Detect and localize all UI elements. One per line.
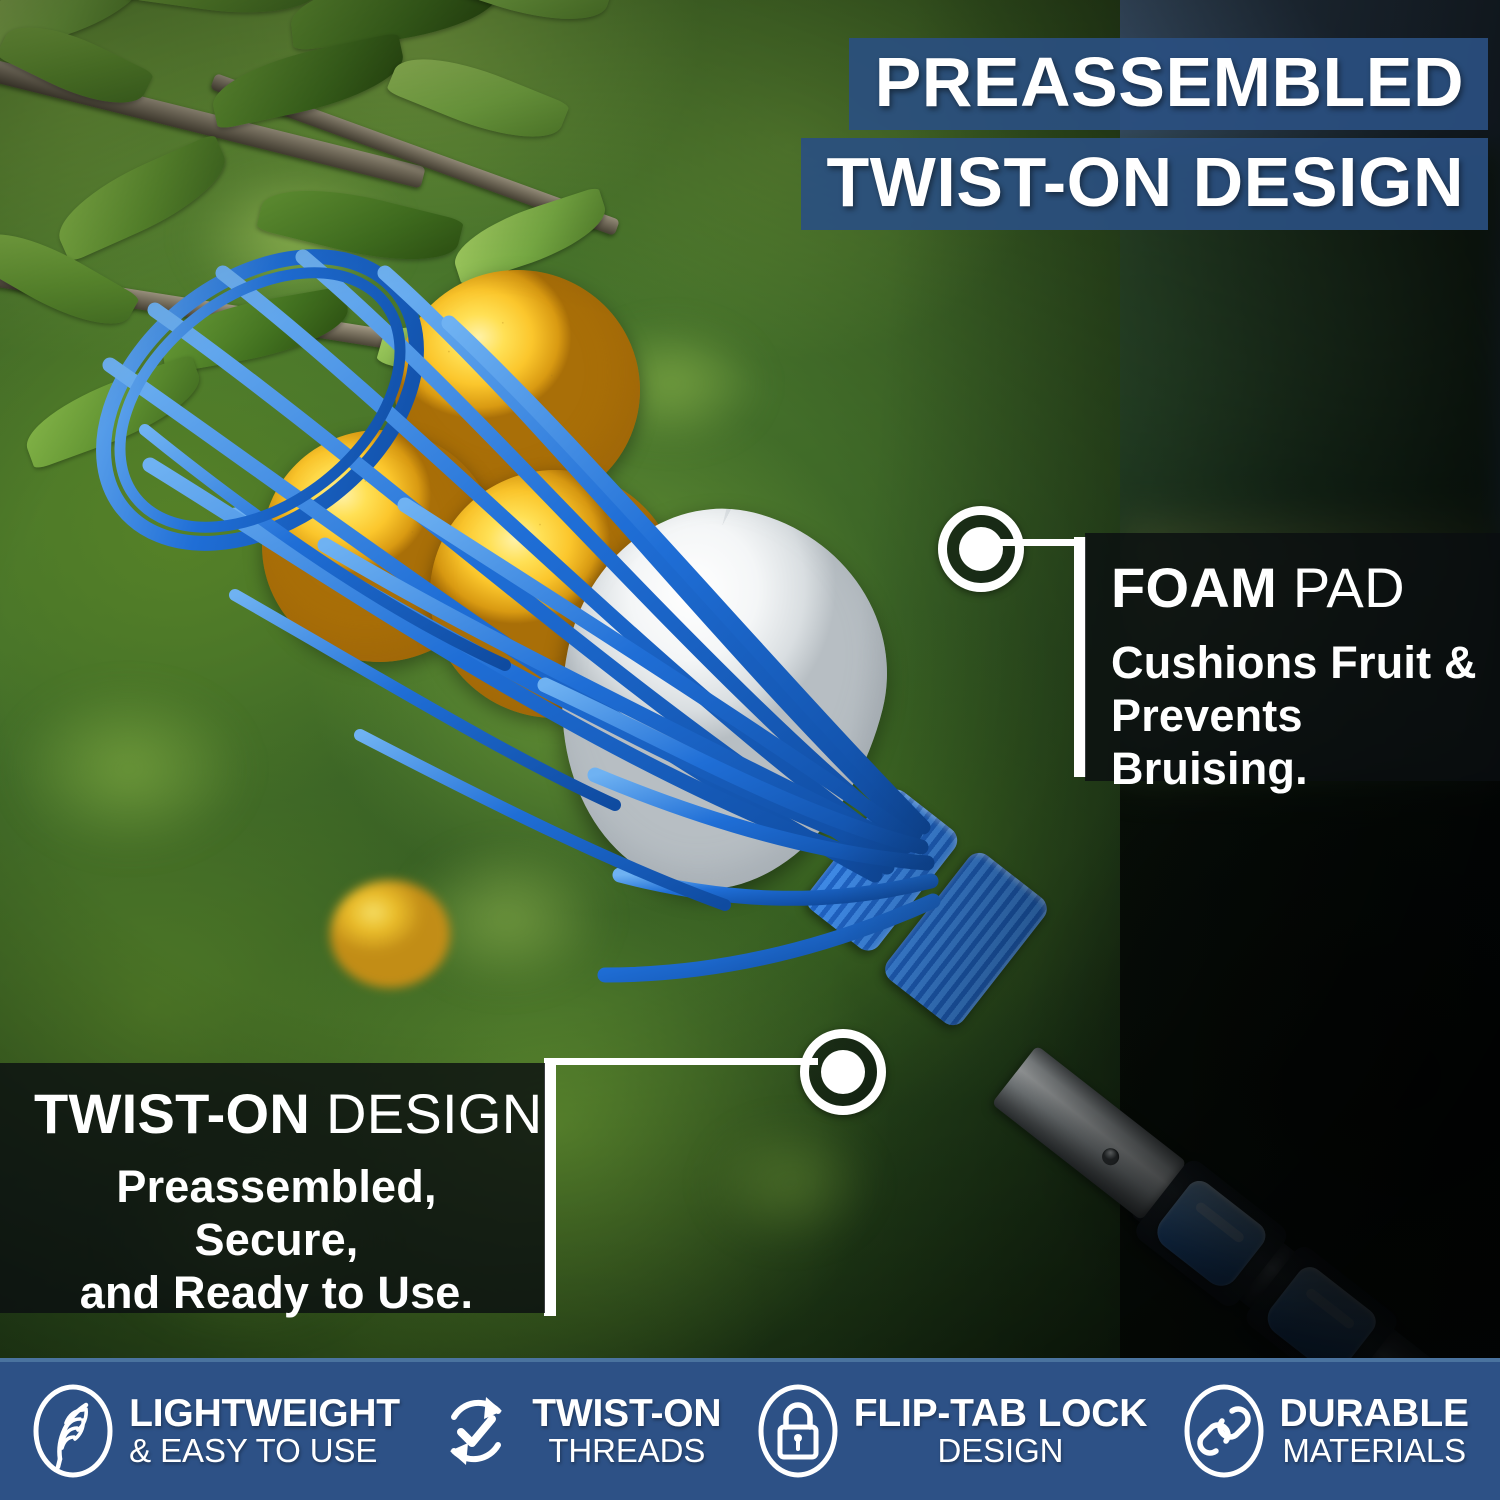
feature-lightweight: LIGHTWEIGHT & EASY TO USE bbox=[31, 1383, 400, 1479]
headline-banner: PREASSEMBLED TWIST-ON DESIGN bbox=[801, 38, 1489, 230]
feature-durable-materials: DURABLE MATERIALS bbox=[1182, 1383, 1469, 1479]
padlock-icon bbox=[756, 1383, 840, 1479]
blue-wire-basket bbox=[75, 215, 1035, 1015]
headline-line-1: PREASSEMBLED bbox=[849, 38, 1488, 130]
feature-title: FLIP-TAB LOCK bbox=[854, 1394, 1147, 1434]
feature-subtitle: & EASY TO USE bbox=[129, 1434, 400, 1468]
twist-on-callout-title: TWIST-ON DESIGN bbox=[34, 1085, 519, 1142]
feature-twist-on-threads: TWIST-ON THREADS bbox=[434, 1383, 721, 1479]
foam-pad-callout-body: Cushions Fruit & Prevents Bruising. bbox=[1111, 636, 1482, 795]
feature-bar: LIGHTWEIGHT & EASY TO USE TWIST-ON THREA… bbox=[0, 1358, 1500, 1500]
feature-title: DURABLE bbox=[1280, 1394, 1469, 1434]
feather-icon bbox=[31, 1383, 115, 1479]
callout-marker-dot bbox=[959, 527, 1003, 571]
twist-on-callout: TWIST-ON DESIGN Preassembled, Secure, an… bbox=[0, 1063, 545, 1313]
foam-pad-callout-marker bbox=[938, 506, 1024, 592]
refresh-check-icon bbox=[434, 1383, 518, 1479]
twist-on-callout-body: Preassembled, Secure, and Ready to Use. bbox=[34, 1160, 519, 1319]
twist-on-leader-line bbox=[556, 1058, 818, 1065]
product-marketing-image: PREASSEMBLED TWIST-ON DESIGN FOAM PAD Cu… bbox=[0, 0, 1500, 1500]
foam-pad-callout: FOAM PAD Cushions Fruit & Prevents Bruis… bbox=[1085, 533, 1500, 781]
feature-subtitle: DESIGN bbox=[854, 1434, 1147, 1468]
chain-link-icon bbox=[1182, 1383, 1266, 1479]
feature-flip-tab-lock: FLIP-TAB LOCK DESIGN bbox=[756, 1383, 1147, 1479]
feature-subtitle: MATERIALS bbox=[1280, 1434, 1469, 1468]
feature-title: TWIST-ON bbox=[532, 1394, 721, 1434]
foam-pad-callout-title: FOAM PAD bbox=[1111, 559, 1482, 616]
feature-subtitle: THREADS bbox=[532, 1434, 721, 1468]
feature-title: LIGHTWEIGHT bbox=[129, 1394, 400, 1434]
twist-on-callout-marker bbox=[800, 1029, 886, 1115]
headline-line-2: TWIST-ON DESIGN bbox=[801, 138, 1489, 230]
flip-tab bbox=[1150, 1175, 1271, 1293]
twist-on-accent-bar bbox=[544, 1058, 556, 1316]
foam-pad-leader-line bbox=[992, 539, 1082, 546]
pole-rivet bbox=[1099, 1145, 1123, 1169]
chrome-pole-section bbox=[992, 1045, 1187, 1220]
callout-marker-dot bbox=[821, 1050, 865, 1094]
